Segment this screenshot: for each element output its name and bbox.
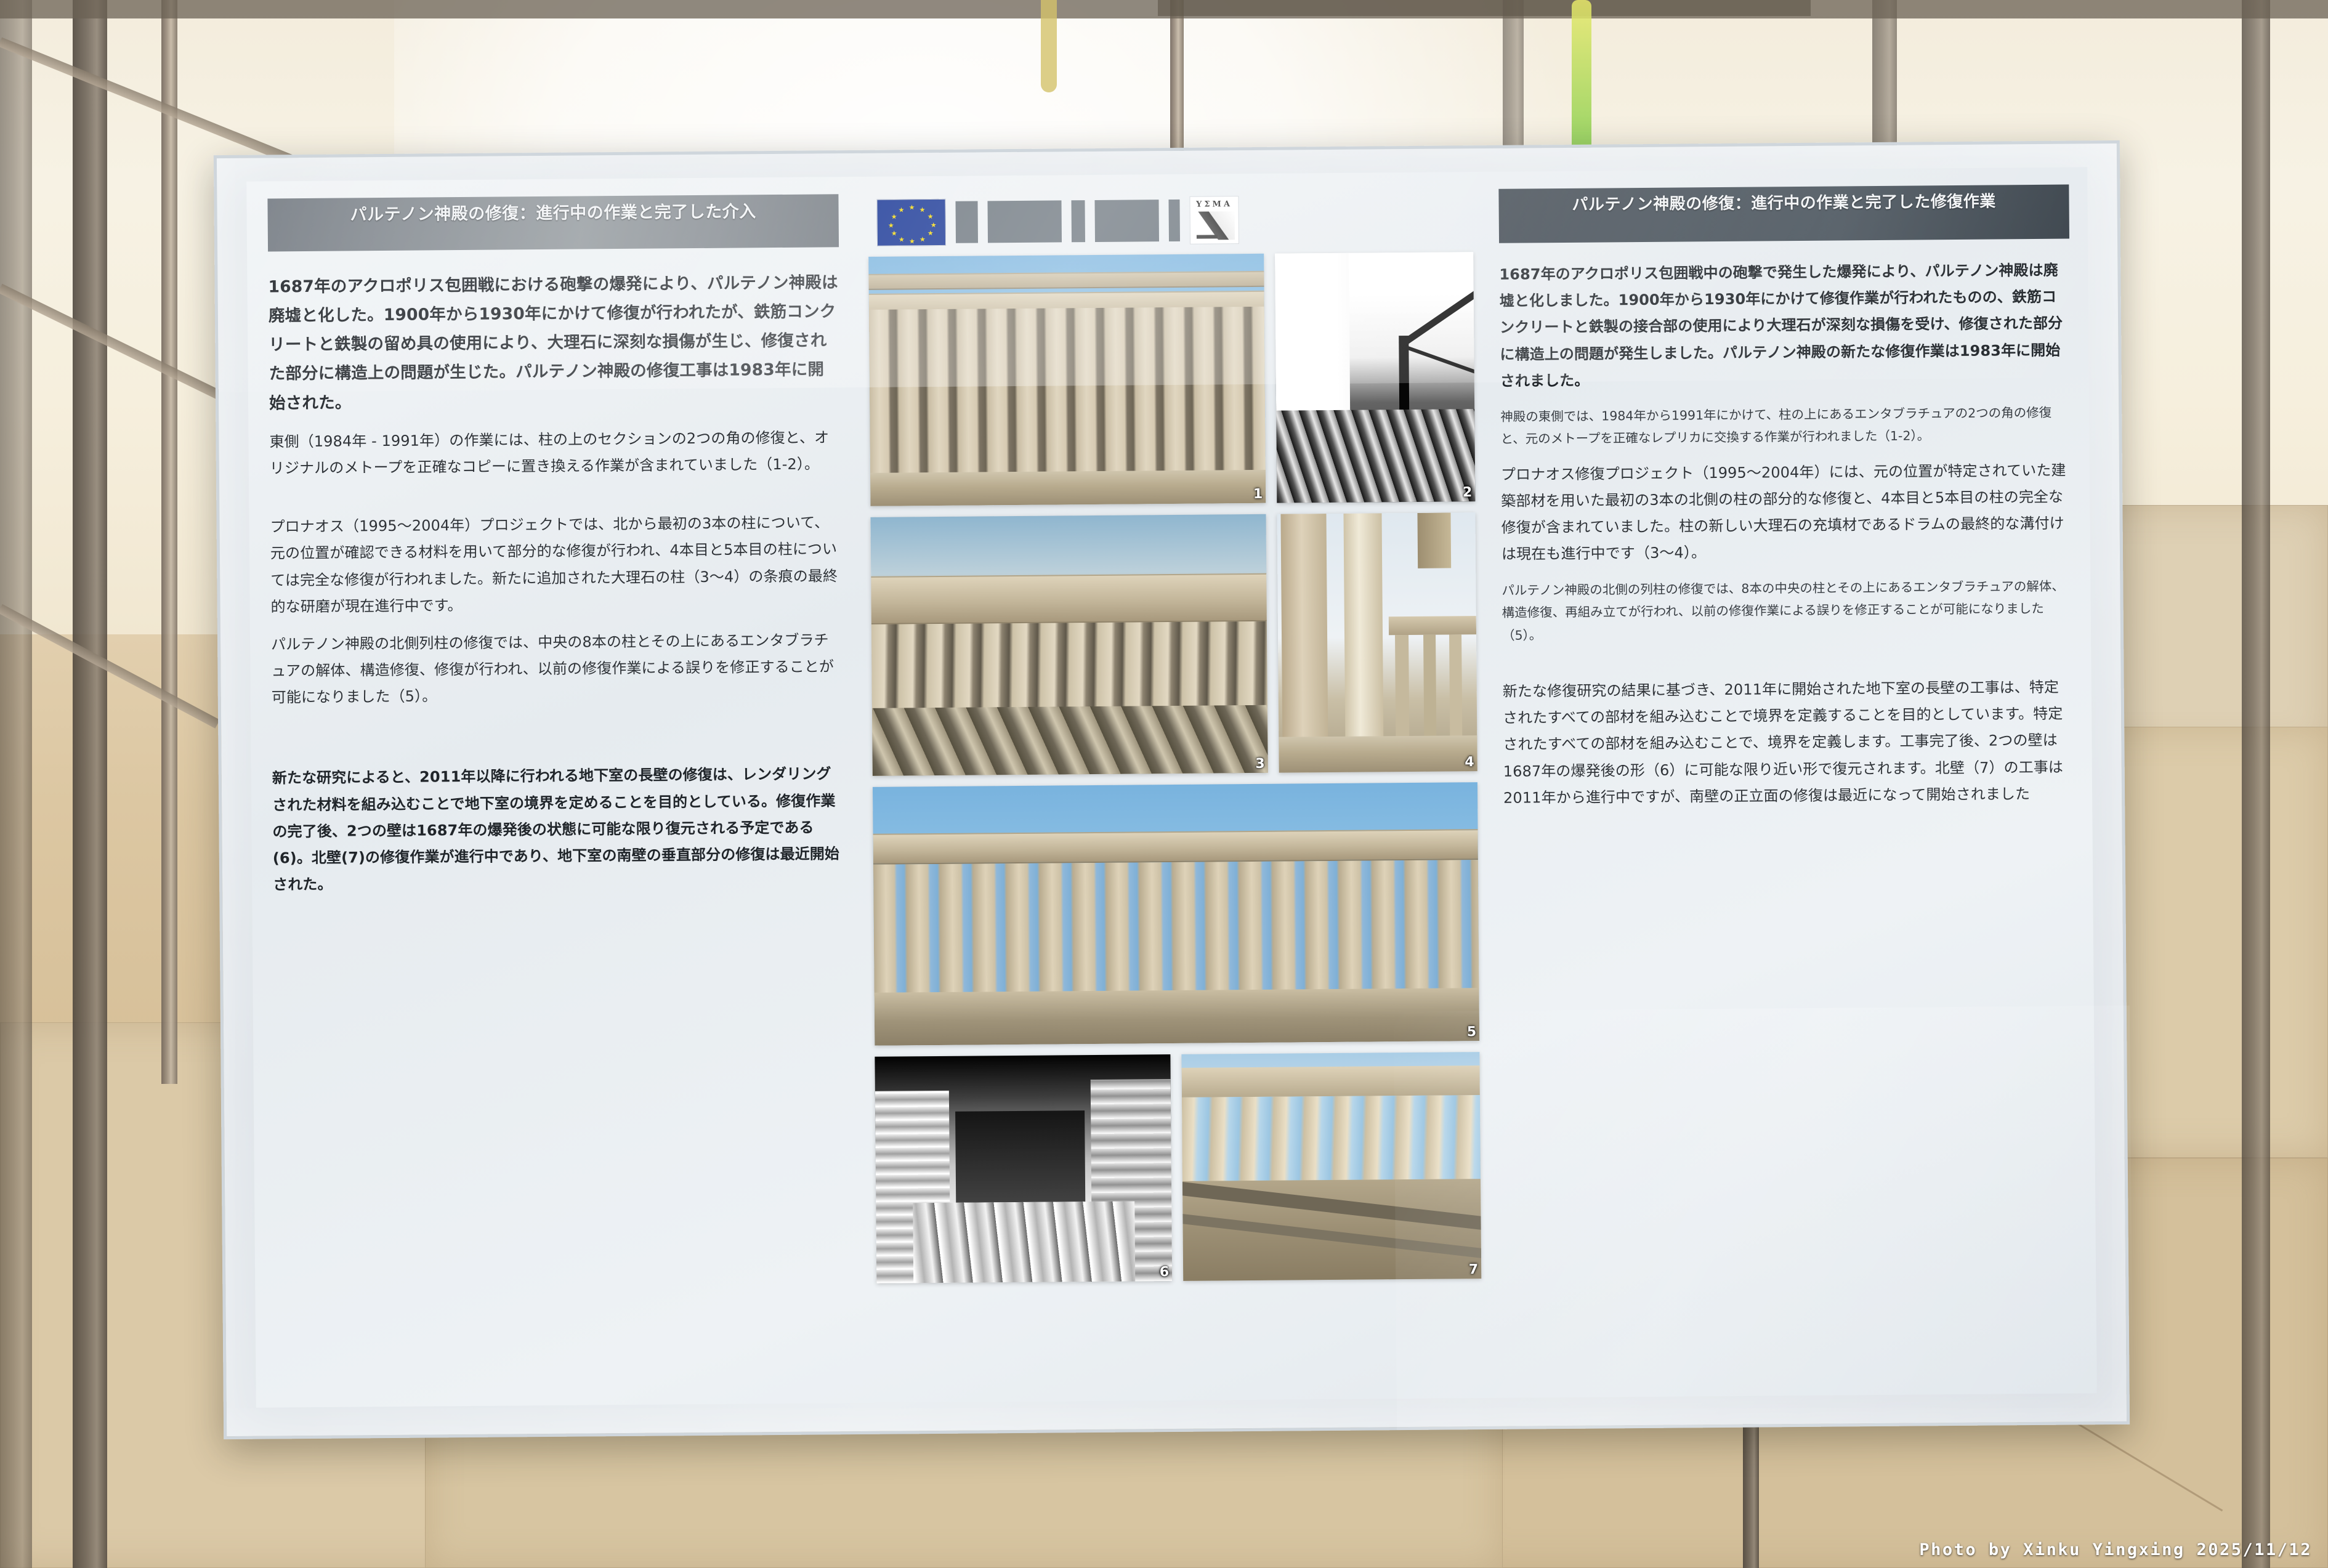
photo-6: 6 xyxy=(875,1054,1172,1283)
photo-number: 3 xyxy=(1255,758,1264,771)
photo-number: 2 xyxy=(1463,486,1472,499)
scaffold-pole xyxy=(0,0,32,1568)
scaffold-beam xyxy=(1158,0,1811,16)
logo-strip: ★ ★ ★ ★ ★ ★ ★ ★ ★ ★ ★ ★ xyxy=(868,193,1473,248)
redacted-logo-block xyxy=(1094,200,1159,242)
photo-row: 6 7 xyxy=(875,1052,1481,1283)
right-panel-body: 1687年のアクロポリス包囲戦中の砲撃で発生した爆発により、パルテノン神殿は廃墟… xyxy=(1499,257,2074,812)
paragraph: 新たな研究によると、2011年以降に行われる地下室の長壁の修復は、レンダリングさ… xyxy=(272,761,844,899)
scaffold-pole xyxy=(161,0,177,1084)
right-text-panel: パルテノン神殿の修復：進行中の作業と完了した修復作業 1687年のアクロポリス包… xyxy=(1481,167,2097,1398)
redacted-logo-block xyxy=(1168,200,1180,241)
photo-grid: 1 2 xyxy=(868,252,1481,1283)
ysma-logo-icon: ΥΣΜΑ xyxy=(1189,196,1239,244)
scaffold-pole xyxy=(73,0,107,1568)
redacted-logo-block xyxy=(955,201,978,243)
paragraph: プロナオス（1995〜2004年）プロジェクトでは、北から最初の3本の柱について… xyxy=(270,509,841,620)
photo-column: ★ ★ ★ ★ ★ ★ ★ ★ ★ ★ ★ ★ xyxy=(859,172,1491,1403)
paragraph: 新たな修復研究の結果に基づき、2011年に開始された地下室の長壁の工事は、特定さ… xyxy=(1503,674,2074,812)
left-panel-header: パルテノン神殿の修復：進行中の作業と完了した介入 xyxy=(267,194,839,251)
redacted-logo-block xyxy=(987,200,1062,243)
photographer-watermark: Photo by Xinku Yingxing 2025/11/12 xyxy=(1919,1540,2312,1559)
photo-2: 2 xyxy=(1275,252,1475,503)
european-union-flag-icon: ★ ★ ★ ★ ★ ★ ★ ★ ★ ★ ★ ★ xyxy=(876,199,946,246)
photo-number: 7 xyxy=(1469,1263,1478,1277)
information-board: パルテノン神殿の修復：進行中の作業と完了した介入 1687年のアクロポリス包囲戦… xyxy=(214,140,2130,1439)
photo-row: 5 xyxy=(873,782,1479,1046)
photo-3: 3 xyxy=(871,514,1268,776)
photo-row: 3 4 xyxy=(871,512,1477,776)
paragraph: パルテノン神殿の北側の列柱の修復では、8本の中央の柱とその上にあるエンタブラチュ… xyxy=(1501,575,2072,647)
scaffold-pole xyxy=(2242,0,2270,1568)
photo-scene: パルテノン神殿の修復：進行中の作業と完了した介入 1687年のアクロポリス包囲戦… xyxy=(0,0,2328,1568)
photo-number: 5 xyxy=(1467,1025,1476,1039)
paragraph: 神殿の東側では、1984年から1991年にかけて、柱の上にあるエンタブラチュアの… xyxy=(1500,401,2071,450)
photo-number: 6 xyxy=(1160,1266,1169,1279)
photo-4: 4 xyxy=(1277,512,1477,773)
paragraph: 1687年のアクロポリス包囲戦における砲撃の爆発により、パルテノン神殿は廃墟と化… xyxy=(268,268,840,418)
photo-7: 7 xyxy=(1181,1052,1481,1281)
photo-row: 1 2 xyxy=(868,252,1475,506)
paragraph: パルテノン神殿の北側列柱の修復では、中央の8本の柱とその上にあるエンタブラチュア… xyxy=(271,627,843,711)
crane-hook xyxy=(1041,0,1057,92)
photo-1: 1 xyxy=(868,254,1266,506)
photo-number: 4 xyxy=(1465,756,1474,769)
left-panel-body: 1687年のアクロポリス包囲戦における砲撃の爆発により、パルテノン神殿は廃墟と化… xyxy=(268,268,844,899)
ysma-label: ΥΣΜΑ xyxy=(1190,200,1238,209)
board-content: パルテノン神殿の修復：進行中の作業と完了した介入 1687年のアクロポリス包囲戦… xyxy=(246,167,2097,1407)
redacted-logo-block xyxy=(1071,200,1085,242)
photo-5: 5 xyxy=(873,782,1479,1046)
paragraph: 東側（1984年 - 1991年）の作業には、柱の上のセクションの2つの角の修復… xyxy=(269,424,841,482)
ysma-emblem xyxy=(1195,211,1235,240)
left-text-panel: パルテノン神殿の修復：進行中の作業と完了した介入 1687年のアクロポリス包囲戦… xyxy=(246,177,869,1408)
paragraph: 1687年のアクロポリス包囲戦中の砲撃で発生した爆発により、パルテノン神殿は廃墟… xyxy=(1499,257,2071,395)
paragraph: プロナオス修復プロジェクト（1995〜2004年）には、元の位置が特定されていた… xyxy=(1501,457,2072,568)
right-panel-header: パルテノン神殿の修復：進行中の作業と完了した修復作業 xyxy=(1498,185,2069,243)
photo-number: 1 xyxy=(1253,488,1263,501)
